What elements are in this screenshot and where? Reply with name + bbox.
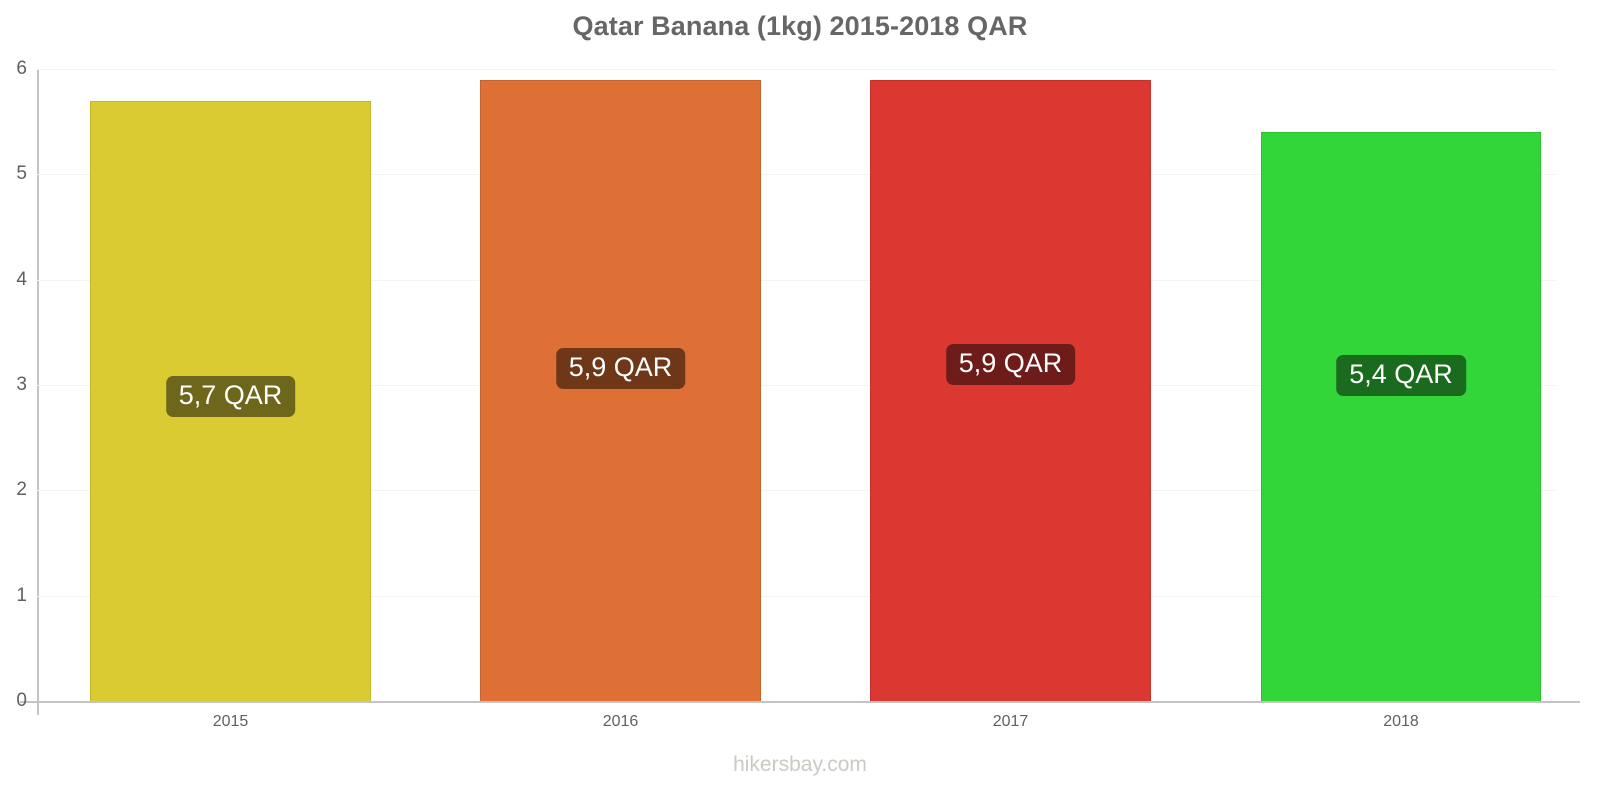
x-axis-tick-label-2017: 2017 <box>993 713 1029 731</box>
bar-value-label: 5,9 QAR <box>556 348 686 389</box>
bar-value-label: 5,4 QAR <box>1336 355 1466 396</box>
plot-area: 5,7 QAR5,9 QAR5,9 QAR5,4 QAR <box>37 69 1556 701</box>
bar-2016[interactable]: 5,9 QAR <box>480 80 761 701</box>
y-axis-tick-label: 0 <box>0 690 27 712</box>
bar-value-label: 5,7 QAR <box>166 376 296 417</box>
y-axis-tick-label: 4 <box>0 269 27 291</box>
y-axis-line-stub <box>37 701 39 715</box>
y-axis-tick-label: 2 <box>0 479 27 501</box>
x-axis-tick-label-2015: 2015 <box>213 713 249 731</box>
y-axis-tick-label: 3 <box>0 374 27 396</box>
y-axis-tick-label: 1 <box>0 585 27 607</box>
bar-2015[interactable]: 5,7 QAR <box>90 101 371 701</box>
y-axis-tick-label: 6 <box>0 58 27 80</box>
bar-value-label: 5,9 QAR <box>946 344 1076 385</box>
bar-chart: Qatar Banana (1kg) 2015-2018 QAR 0123456… <box>0 0 1600 800</box>
bar-2018[interactable]: 5,4 QAR <box>1261 132 1541 701</box>
x-axis-tick-label-2018: 2018 <box>1383 713 1419 731</box>
footer-source-label: hikersbay.com <box>0 753 1600 777</box>
bar-2017[interactable]: 5,9 QAR <box>870 80 1151 701</box>
x-axis-tick-label-2016: 2016 <box>603 713 639 731</box>
y-axis-tick-label: 5 <box>0 163 27 185</box>
x-axis-line <box>20 701 1580 703</box>
chart-title: Qatar Banana (1kg) 2015-2018 QAR <box>0 11 1600 42</box>
